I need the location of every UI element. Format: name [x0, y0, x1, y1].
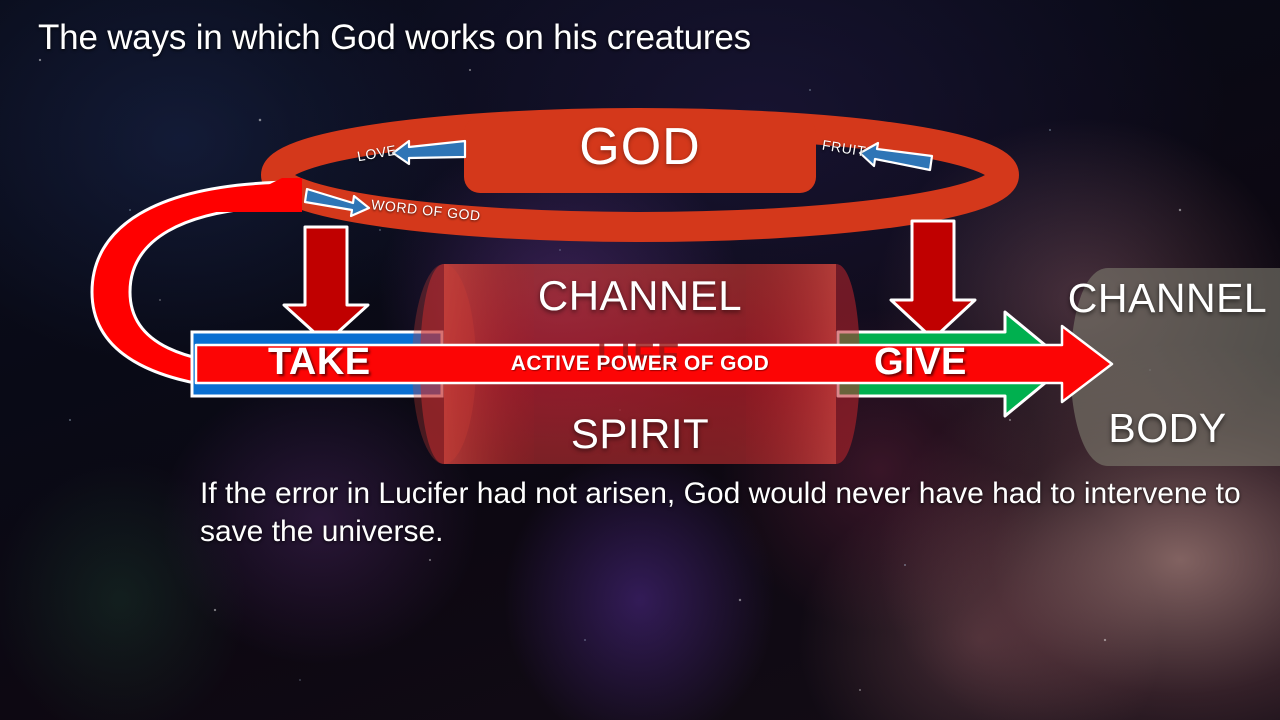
right-down-arrow [891, 221, 975, 339]
take-label: TAKE [268, 341, 371, 384]
active-power-label: ACTIVE POWER OF GOD [440, 352, 840, 376]
slide-caption: If the error in Lucifer had not arisen, … [200, 475, 1265, 552]
love-arrow-icon [393, 141, 465, 164]
cylinder-spirit-label: SPIRIT [440, 410, 840, 458]
cylinder-channel-label: CHANNEL [440, 272, 840, 320]
slide-canvas: The ways in which God works on his creat… [0, 0, 1280, 720]
right-box-channel-label: CHANNEL [1060, 275, 1275, 322]
god-box-label: GOD [466, 117, 814, 177]
give-label: GIVE [874, 341, 967, 384]
left-down-arrow [284, 227, 368, 343]
right-box-body-label: BODY [1060, 405, 1275, 452]
